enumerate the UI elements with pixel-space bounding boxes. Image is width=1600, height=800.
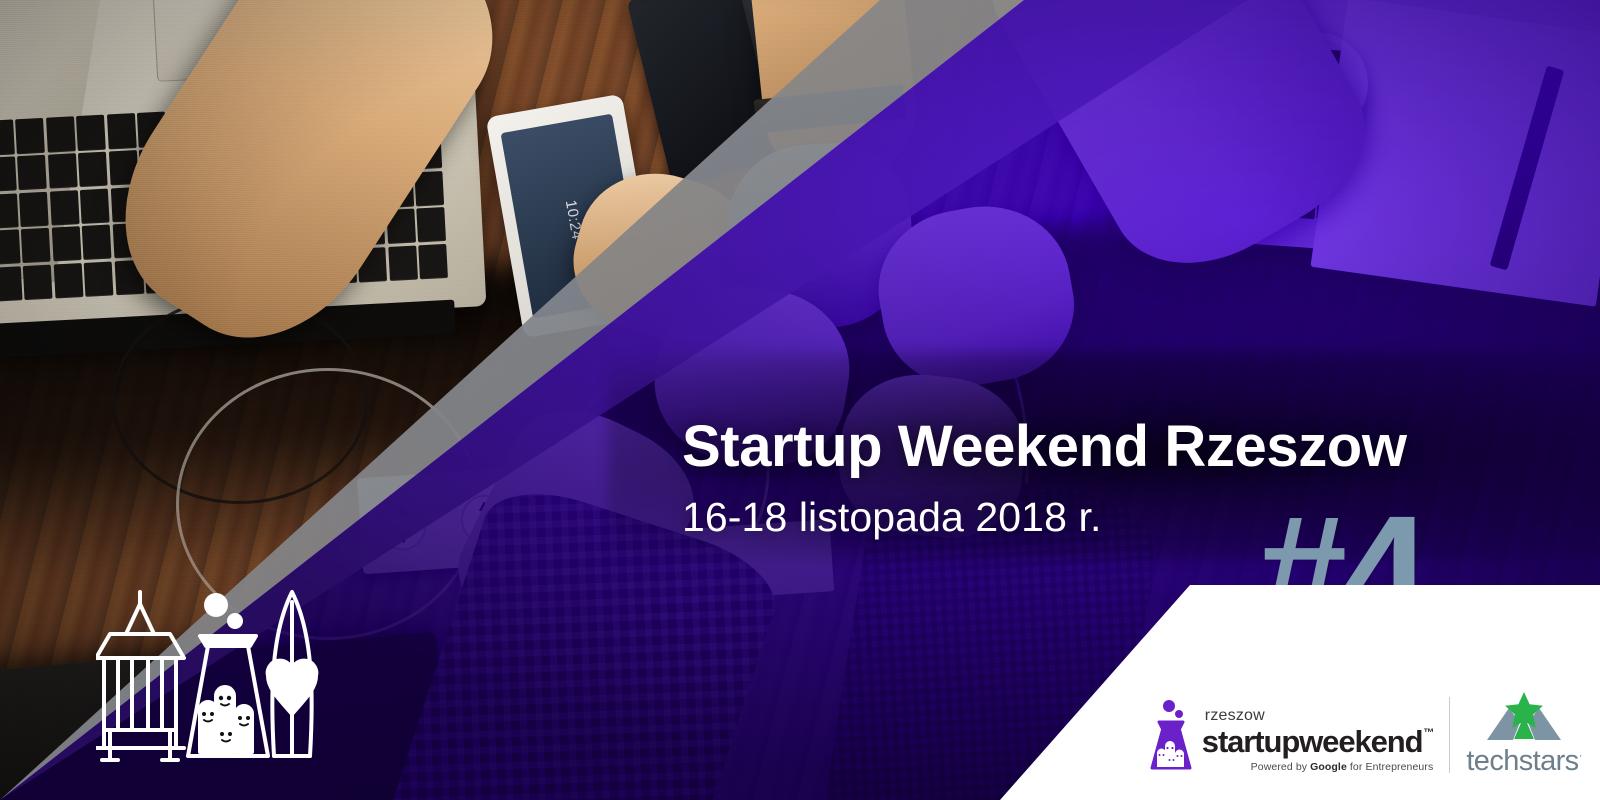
startup-weekend-logo: rzeszow startupweekend ™ Powered by Goog… — [1147, 698, 1434, 772]
event-banner: 10:24 St — [0, 0, 1600, 800]
pavilion-icon — [96, 592, 184, 760]
mountain-star-icon — [1485, 692, 1563, 742]
page-title: Startup Weekend Rzeszow — [682, 417, 1407, 476]
flask-icon — [1147, 698, 1193, 772]
sw-city-label: rzeszow — [1205, 708, 1434, 724]
event-date: 16-18 listopada 2018 r. — [682, 494, 1101, 541]
sw-trademark: ™ — [1423, 728, 1433, 739]
techstars-logo: techstars · — [1466, 692, 1582, 778]
sw-powered-by: Powered by Google for Entrepreneurs — [1251, 762, 1434, 773]
rzeszow-landmarks-icon — [96, 588, 336, 768]
startup-weekend-wordmark: rzeszow startupweekend ™ Powered by Goog… — [1202, 708, 1434, 773]
powered-prefix: Powered by — [1251, 761, 1310, 773]
techstars-wordmark: techstars · — [1466, 745, 1582, 778]
monument-heart-icon — [268, 592, 317, 756]
flask-people-icon — [188, 593, 268, 756]
sw-name: startupweekend ™ — [1202, 726, 1434, 757]
powered-suffix: for Entrepreneurs — [1347, 761, 1433, 773]
sw-name-text: startupweekend — [1202, 726, 1423, 757]
logo-divider — [1449, 697, 1450, 773]
techstars-name: techstars — [1466, 745, 1578, 778]
powered-brand: Google — [1310, 761, 1347, 773]
techstars-registered: · — [1579, 748, 1582, 762]
sponsor-lockup: rzeszow startupweekend ™ Powered by Goog… — [1147, 692, 1582, 778]
